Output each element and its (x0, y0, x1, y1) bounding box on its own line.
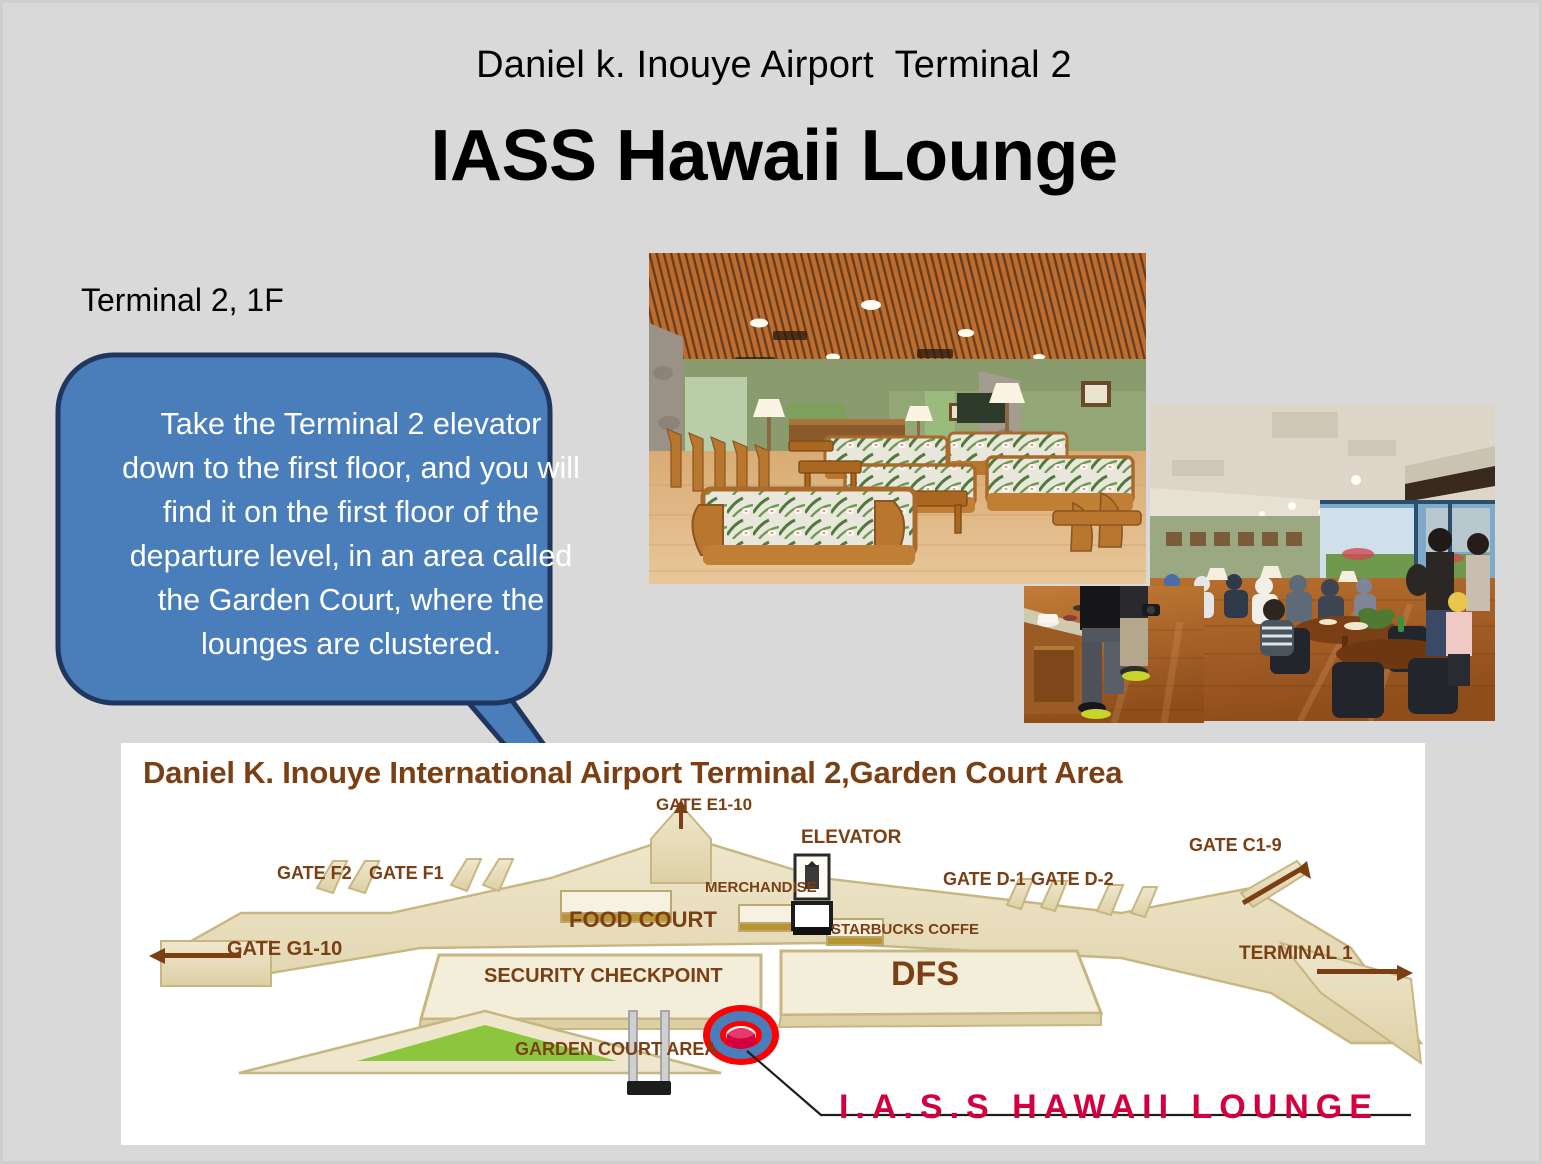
map-label-merchandise: MERCHANDISE (705, 879, 817, 896)
map-label-gate-c1-9: GATE C1-9 (1189, 835, 1282, 856)
map-label-gate-g1-10: GATE G1-10 (227, 938, 342, 961)
page-title: IASS Hawaii Lounge (3, 115, 1542, 197)
map-label-gate-f2: GATE F2 (277, 863, 352, 884)
map-label-gate-e1-10: GATE E1-10 (656, 795, 752, 815)
map-label-security: SECURITY CHECKPOINT (484, 965, 723, 988)
floor-label: Terminal 2, 1F (81, 282, 284, 319)
map-label-dfs: DFS (891, 955, 959, 994)
airport-subtitle: Daniel k. Inouye Airport Terminal 2 (3, 44, 1542, 87)
map-label-gate-d-1: GATE D-1 (943, 869, 1026, 890)
callout-shape (48, 343, 768, 743)
map-label-elevator: ELEVATOR (801, 827, 901, 849)
map-label-gate-f1: GATE F1 (369, 863, 444, 884)
slide: Daniel k. Inouye Airport Terminal 2 IASS… (0, 0, 1542, 1164)
map-label-food-court: FOOD COURT (569, 907, 717, 933)
map-label-terminal-1: TERMINAL 1 (1239, 943, 1353, 965)
directions-callout[interactable]: Take the Terminal 2 elevator down to the… (48, 343, 768, 743)
iass-lounge-logo: I.A.S.S HAWAII LOUNGE (839, 1088, 1379, 1127)
terminal-map: Daniel K. Inouye International Airport T… (121, 743, 1425, 1145)
map-label-garden-court: GARDEN COURT AREA (515, 1039, 717, 1060)
counter-illustration (1024, 586, 1204, 723)
map-label-gate-d-2: GATE D-2 (1031, 869, 1114, 890)
map-label-starbucks: STARBUCKS COFFE (831, 921, 979, 938)
photo-counter (1024, 586, 1204, 723)
